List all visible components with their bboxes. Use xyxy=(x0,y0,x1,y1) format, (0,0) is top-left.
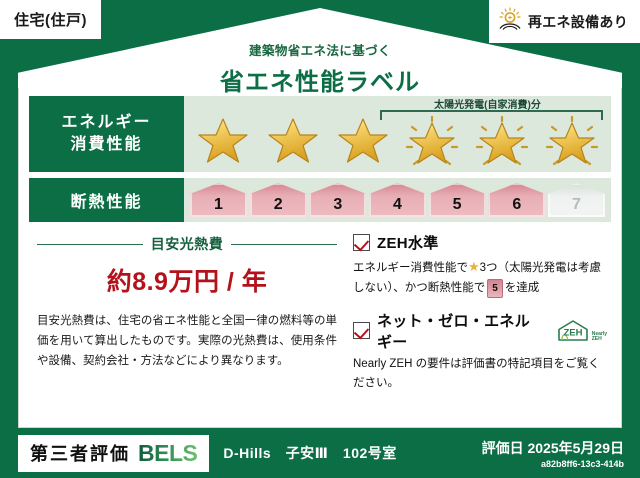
cost-rule-left xyxy=(37,244,143,245)
energy-performance-label: エネルギー 消費性能 xyxy=(29,96,184,172)
energy-label-root: 建築物省エネ法に基づく 省エネ性能ラベル 住宅(住戸) xyxy=(0,0,640,478)
evaluation-date: 評価日 2025年5月29日 xyxy=(482,438,624,458)
star-6-solar xyxy=(541,108,603,168)
certification-column: ZEH水準 エネルギー消費性能で★3つ（太陽光発電は考慮しない）、かつ断熱性能で… xyxy=(349,232,621,405)
zeh-level-title: ZEH水準 xyxy=(377,232,439,253)
net-zero-body: Nearly ZEH の要件は評価書の特記項目をご覧ください。 xyxy=(353,355,607,395)
zeh-house-icon: ZEH xyxy=(556,319,590,343)
insulation-scale: 1 2 3 4 5 6 7 xyxy=(184,178,611,222)
energy-stars-area: 太陽光発電(自家消費)分 xyxy=(184,96,611,172)
renewable-badge-label: 再エネ設備あり xyxy=(528,12,628,32)
bels-en-label: BELS xyxy=(138,440,197,467)
zeh-level-body: エネルギー消費性能で★3つ（太陽光発電は考慮しない）、かつ断熱性能で5を達成 xyxy=(353,256,607,299)
bels-jp-label: 第三者評価 xyxy=(30,440,130,466)
header-title-block: 建築物省エネ法に基づく 省エネ性能ラベル xyxy=(0,40,640,97)
insulation-step-4: 4 xyxy=(369,183,426,217)
footer-bar: 第三者評価 BELS D-Hills 子安Ⅲ 102号室 評価日 2025年5月… xyxy=(0,428,640,478)
svg-text:ZEH: ZEH xyxy=(563,327,582,338)
checkmark-icon xyxy=(353,234,370,251)
property-name: D-Hills 子安Ⅲ 102号室 xyxy=(223,443,396,463)
net-zero-title: ネット・ゼロ・エネルギー xyxy=(377,310,545,352)
insulation-level-badge: 5 xyxy=(487,279,503,298)
net-zero-energy-block: ネット・ゼロ・エネルギー ZEH Nearly ZEH xyxy=(353,310,607,395)
cost-rule-right xyxy=(231,244,337,245)
mini-star-icon: ★ xyxy=(468,259,480,274)
page-title: 省エネ性能ラベル xyxy=(0,62,640,97)
star-3 xyxy=(332,108,394,168)
building-type-tag: 住宅(住戸) xyxy=(0,0,101,39)
zeh-logo-sub: Nearly ZEH xyxy=(592,332,607,343)
insulation-step-1: 1 xyxy=(190,183,247,217)
cost-heading-row: 目安光熱費 xyxy=(37,234,337,254)
cost-value: 約8.9万円 / 年 xyxy=(37,262,337,298)
star-4-solar xyxy=(401,108,463,168)
star-2 xyxy=(262,108,324,168)
zeh-body-pre: エネルギー消費性能で xyxy=(353,262,468,274)
renewable-equipment-badge: 再エネ設備あり xyxy=(489,0,640,43)
star-5-solar xyxy=(471,108,533,168)
zeh-sub-line2: ZEH xyxy=(592,337,607,342)
insulation-step-7: 7 xyxy=(548,183,605,217)
insulation-step-6: 6 xyxy=(488,183,545,217)
cost-heading: 目安光熱費 xyxy=(151,234,224,254)
label-card: エネルギー 消費性能 太陽光発電(自家消費)分 xyxy=(18,88,622,428)
insulation-step-5: 5 xyxy=(429,183,486,217)
zeh-logo: ZEH Nearly ZEH xyxy=(556,319,607,343)
insulation-steps-area: 1 2 3 4 5 6 7 xyxy=(184,178,611,222)
zeh-level-head: ZEH水準 xyxy=(353,232,607,253)
insulation-step-2: 2 xyxy=(250,183,307,217)
evaluation-info: 評価日 2025年5月29日 a82b8ff6-13c3-414b xyxy=(482,438,624,469)
evaluation-id: a82b8ff6-13c3-414b xyxy=(482,459,624,469)
insulation-performance-label: 断熱性能 xyxy=(29,178,184,222)
zeh-body-post: を達成 xyxy=(505,282,540,294)
lower-content: 目安光熱費 約8.9万円 / 年 目安光熱費は、住宅の省エネ性能と全国一律の燃料… xyxy=(19,232,621,405)
cost-note: 目安光熱費は、住宅の省エネ性能と全国一律の燃料等の単価を用いて算出したものです。… xyxy=(37,311,337,371)
insulation-performance-row: 断熱性能 1 2 3 4 5 6 7 xyxy=(29,178,611,222)
star-1 xyxy=(192,108,254,168)
energy-label-line2: 消費性能 xyxy=(70,134,142,156)
net-zero-head: ネット・ゼロ・エネルギー ZEH Nearly ZEH xyxy=(353,310,607,352)
sun-icon xyxy=(497,7,523,36)
utility-cost-column: 目安光熱費 約8.9万円 / 年 目安光熱費は、住宅の省エネ性能と全国一律の燃料… xyxy=(19,232,349,405)
checkmark-icon xyxy=(353,322,370,339)
zeh-level-block: ZEH水準 エネルギー消費性能で★3つ（太陽光発電は考慮しない）、かつ断熱性能で… xyxy=(353,232,607,299)
energy-label-line1: エネルギー xyxy=(61,112,151,134)
insulation-step-3: 3 xyxy=(309,183,366,217)
energy-performance-row: エネルギー 消費性能 太陽光発電(自家消費)分 xyxy=(29,96,611,172)
star-rating xyxy=(184,108,611,170)
bels-logo: 第三者評価 BELS xyxy=(18,435,209,472)
